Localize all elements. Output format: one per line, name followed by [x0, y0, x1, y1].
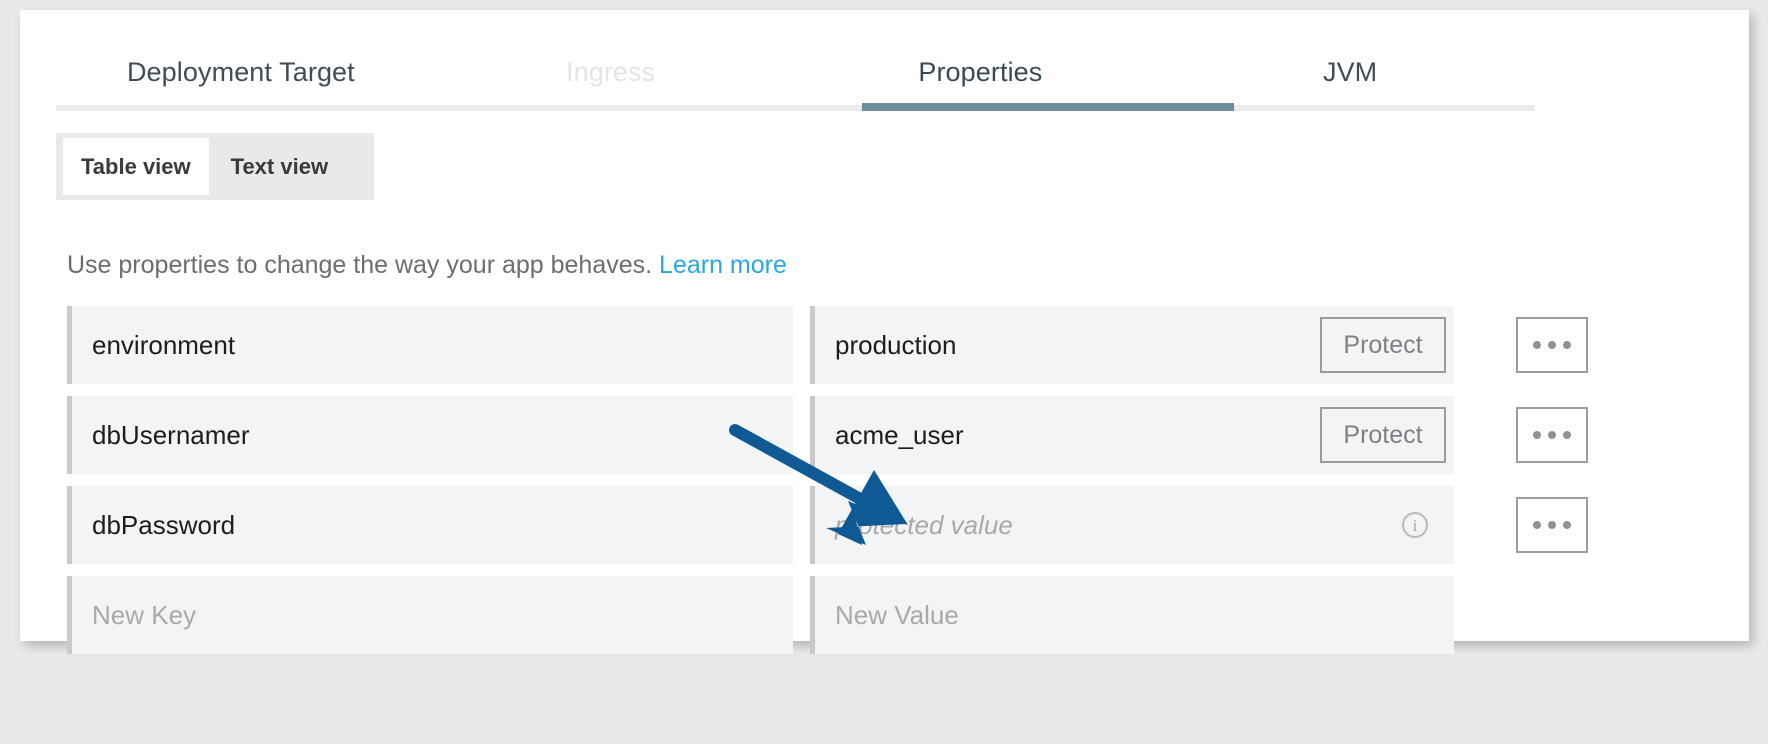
view-mode-toggle: Table view Text view	[56, 133, 374, 200]
ellipsis-icon	[1548, 341, 1556, 349]
table-row-new: New Key New Value	[67, 576, 1732, 654]
property-key-field[interactable]: environment	[67, 306, 793, 384]
property-key-text: dbPassword	[72, 512, 235, 538]
table-row: dbUsernamer acme_user Protect	[67, 396, 1732, 474]
ellipsis-icon	[1563, 521, 1571, 529]
toggle-text-view[interactable]: Text view	[209, 133, 350, 200]
tab-jvm[interactable]: JVM	[1165, 59, 1535, 86]
protect-button[interactable]: Protect	[1320, 407, 1446, 463]
ellipsis-icon	[1563, 341, 1571, 349]
property-value-text: acme_user	[815, 422, 964, 448]
info-circle-icon[interactable]: i	[1402, 512, 1428, 538]
tab-deployment-target[interactable]: Deployment Target	[56, 59, 426, 86]
property-key-text: dbUsernamer	[72, 422, 250, 448]
new-key-placeholder: New Key	[72, 602, 196, 628]
new-value-placeholder: New Value	[815, 602, 959, 628]
row-menu-button[interactable]	[1516, 497, 1588, 553]
ellipsis-icon	[1563, 431, 1571, 439]
ellipsis-icon	[1533, 521, 1541, 529]
new-key-input[interactable]: New Key	[67, 576, 793, 654]
new-value-input[interactable]: New Value	[810, 576, 1454, 654]
properties-card: Deployment Target Ingress Properties JVM…	[20, 10, 1749, 641]
property-value-field[interactable]: acme_user Protect	[810, 396, 1454, 474]
tab-ingress[interactable]: Ingress	[426, 59, 796, 86]
ellipsis-icon	[1533, 431, 1541, 439]
tab-properties[interactable]: Properties	[796, 59, 1166, 86]
property-key-text: environment	[72, 332, 235, 358]
toggle-table-view[interactable]: Table view	[63, 138, 209, 195]
ellipsis-icon	[1548, 431, 1556, 439]
tab-bar: Deployment Target Ingress Properties JVM	[56, 38, 1535, 114]
properties-table: environment production Protect dbUsernam…	[67, 306, 1732, 666]
ellipsis-icon	[1533, 341, 1541, 349]
description-sentence: Use properties to change the way your ap…	[67, 251, 652, 279]
table-row: dbPassword protected value i	[67, 486, 1732, 564]
tab-underline-track	[56, 105, 1535, 111]
ellipsis-icon	[1548, 521, 1556, 529]
row-menu-button[interactable]	[1516, 317, 1588, 373]
learn-more-link[interactable]: Learn more	[659, 251, 787, 279]
property-value-text: protected value	[815, 512, 1013, 538]
screen-root: Deployment Target Ingress Properties JVM…	[0, 0, 1768, 744]
property-key-field[interactable]: dbPassword	[67, 486, 793, 564]
tab-active-indicator	[862, 103, 1234, 111]
property-value-field[interactable]: protected value i	[810, 486, 1454, 564]
property-value-text: production	[815, 332, 956, 358]
protect-button[interactable]: Protect	[1320, 317, 1446, 373]
table-row: environment production Protect	[67, 306, 1732, 384]
property-key-field[interactable]: dbUsernamer	[67, 396, 793, 474]
row-menu-button[interactable]	[1516, 407, 1588, 463]
property-value-field[interactable]: production Protect	[810, 306, 1454, 384]
description-text: Use properties to change the way your ap…	[67, 253, 787, 278]
